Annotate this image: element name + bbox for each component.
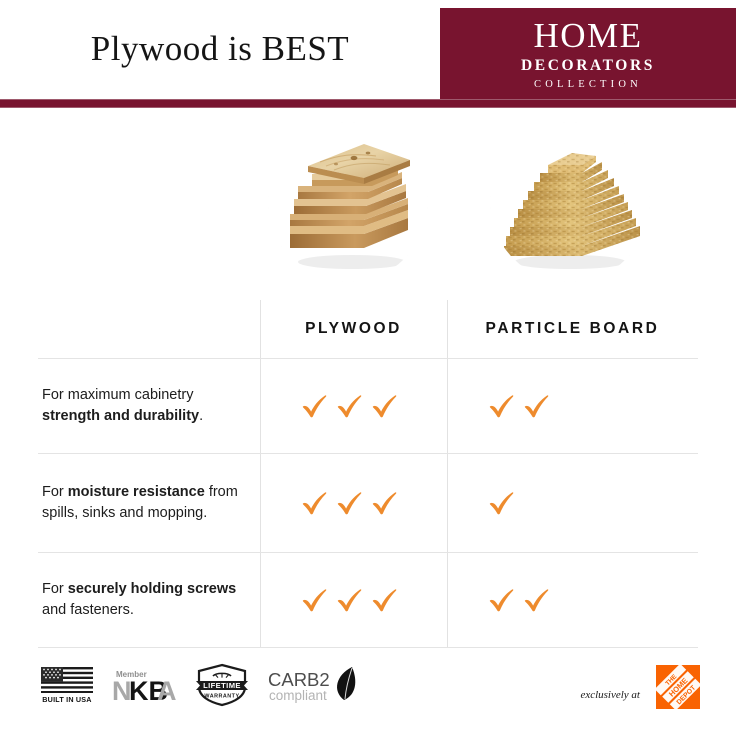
row-label-emphasis: moisture resistance bbox=[68, 484, 205, 500]
row-label-text-tail: and fasteners. bbox=[42, 602, 134, 618]
exclusively-at-label: exclusively at bbox=[580, 689, 640, 701]
check-icon bbox=[335, 585, 365, 615]
built-in-usa-label: BUILT IN USA bbox=[42, 695, 91, 704]
check-icon bbox=[370, 488, 400, 518]
nkba-member-badge: Member N KB A bbox=[110, 665, 178, 710]
row-label: For securely holding screws and fastener… bbox=[42, 552, 252, 647]
check-icon bbox=[522, 391, 552, 421]
row-label-emphasis: securely holding screws bbox=[68, 581, 236, 597]
rating-cell-plywood bbox=[260, 358, 447, 453]
header-accent-bar bbox=[0, 99, 736, 108]
check-icon bbox=[487, 488, 517, 518]
page-footer: BUILT IN USA Member N KB A LIFETIME WA bbox=[0, 655, 736, 736]
rating-cell-particle-board bbox=[447, 358, 698, 453]
rating-cell-particle-board bbox=[447, 453, 698, 552]
warranty-label: WARRANTY bbox=[204, 694, 239, 700]
column-header-plywood: PLYWOOD bbox=[260, 300, 447, 358]
column-header-particle-board: PARTICLE BOARD bbox=[447, 300, 698, 358]
built-in-usa-badge: BUILT IN USA bbox=[40, 665, 94, 710]
row-label: For maximum cabinetry strength and durab… bbox=[42, 358, 252, 453]
row-divider-3 bbox=[38, 647, 698, 648]
brand-logo-decorators: DECORATORS bbox=[521, 58, 655, 74]
certification-badges: BUILT IN USA Member N KB A LIFETIME WA bbox=[40, 663, 362, 712]
row-label-text: For bbox=[42, 484, 68, 500]
rating-cell-particle-board bbox=[447, 552, 698, 647]
check-icon bbox=[370, 391, 400, 421]
row-label-text: For bbox=[42, 581, 68, 597]
lifetime-warranty-badge: LIFETIME WARRANTY bbox=[194, 663, 250, 712]
page-title: Plywood is BEST bbox=[0, 0, 440, 97]
check-icon bbox=[300, 585, 330, 615]
particle-board-photo bbox=[490, 122, 650, 282]
rating-cell-plywood bbox=[260, 552, 447, 647]
check-icon bbox=[522, 585, 552, 615]
lifetime-label: LIFETIME bbox=[203, 681, 241, 690]
row-label-text-tail: . bbox=[199, 408, 203, 424]
compliant-label: compliant bbox=[269, 688, 327, 703]
page-header: Plywood is BEST HOME DECORATORS COLLECTI… bbox=[0, 0, 736, 100]
check-icon bbox=[487, 585, 517, 615]
check-icon bbox=[335, 488, 365, 518]
brand-logo-home: HOME bbox=[533, 18, 642, 53]
check-icon bbox=[487, 391, 517, 421]
rating-cell-plywood bbox=[260, 453, 447, 552]
row-label-text: For maximum cabinetry bbox=[42, 387, 193, 403]
check-icon bbox=[335, 391, 365, 421]
check-icon bbox=[370, 585, 400, 615]
table-row: For securely holding screws and fastener… bbox=[38, 552, 698, 647]
table-row: For maximum cabinetry strength and durab… bbox=[38, 358, 698, 453]
carb2-label: CARB2 bbox=[268, 669, 330, 690]
carb2-compliant-badge: CARB2 compliant bbox=[266, 664, 362, 711]
leaf-icon bbox=[337, 667, 355, 700]
home-depot-logo: THE HOME DEPOT bbox=[656, 665, 700, 709]
comparison-table: PLYWOOD PARTICLE BOARD For maximum cabin… bbox=[38, 300, 698, 648]
row-label-emphasis: strength and durability bbox=[42, 408, 199, 424]
product-images bbox=[0, 118, 736, 290]
row-label: For moisture resistance from spills, sin… bbox=[42, 453, 252, 552]
plywood-photo bbox=[268, 122, 428, 282]
table-row: For moisture resistance from spills, sin… bbox=[38, 453, 698, 552]
nkba-letter-a: A bbox=[157, 676, 177, 705]
check-icon bbox=[300, 391, 330, 421]
brand-logo-collection: COLLECTION bbox=[534, 80, 642, 91]
check-icon bbox=[300, 488, 330, 518]
brand-logo: HOME DECORATORS COLLECTION bbox=[440, 8, 736, 100]
